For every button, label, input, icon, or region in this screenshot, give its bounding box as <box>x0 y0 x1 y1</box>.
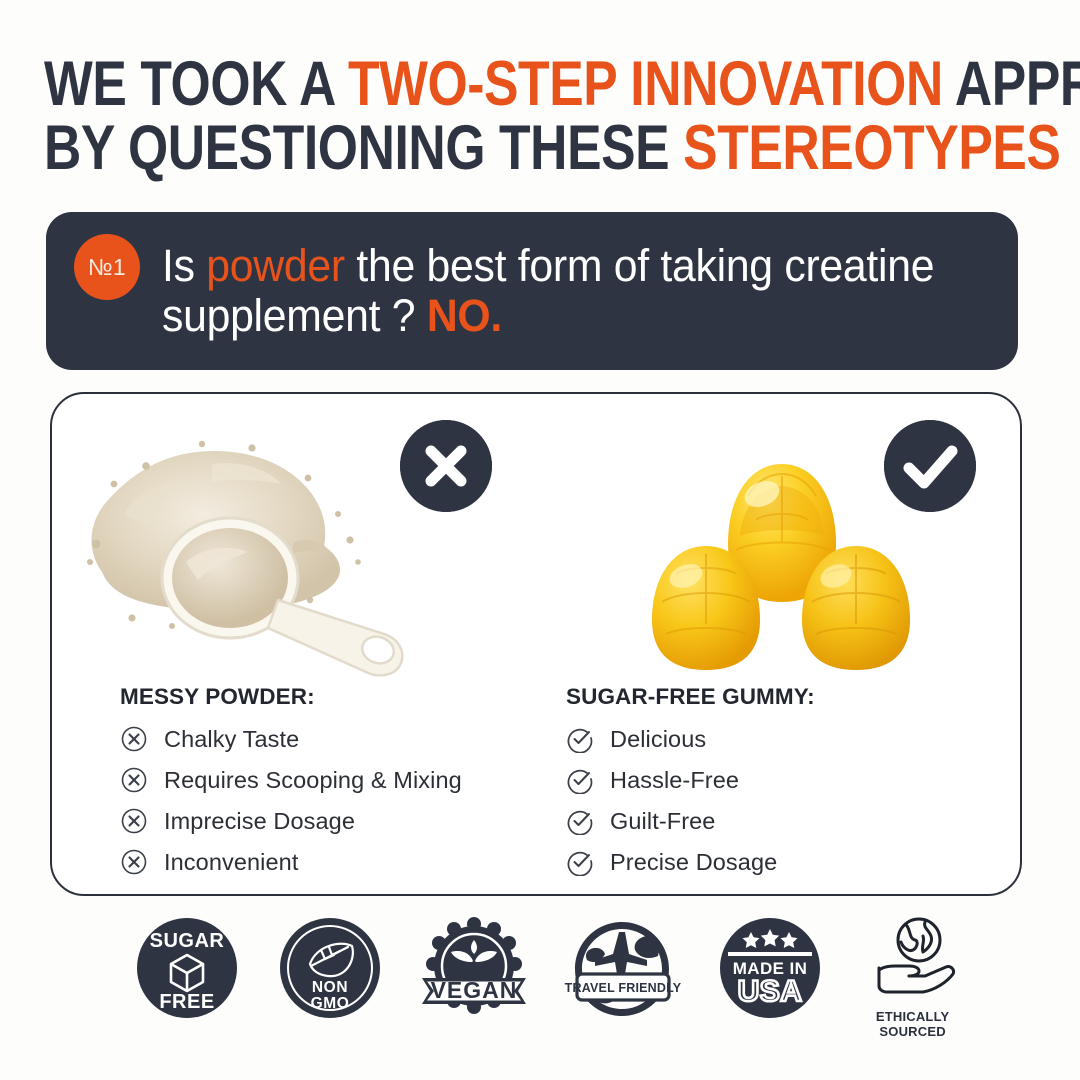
cert-sugar-free-line2: FREE <box>160 991 215 1013</box>
made-in-usa-badge-icon: MADE IN USA <box>718 916 822 1020</box>
list-item-label: Hassle-Free <box>610 767 739 794</box>
question-banner: №1 Is powder the best form of taking cre… <box>46 212 1018 370</box>
cert-made-in-usa-line2: USA <box>737 975 802 1008</box>
list-item: Delicious <box>566 723 986 755</box>
check-circle-outline-icon <box>566 807 594 835</box>
comparison-card: MESSY POWDER: Chalky Taste <box>50 392 1022 896</box>
list-item: Inconvenient <box>120 846 540 878</box>
list-item-label: Guilt-Free <box>610 808 715 835</box>
list-item: Guilt-Free <box>566 805 986 837</box>
headline-line-1: WE TOOK A TWO-STEP INNOVATION APPROACH <box>44 52 864 116</box>
cross-circle-outline-icon <box>120 848 148 876</box>
question-text-part1: Is <box>162 240 206 291</box>
check-circle-outline-icon <box>566 766 594 794</box>
cross-circle-outline-icon <box>120 766 148 794</box>
cert-vegan-label: VEGAN <box>430 977 517 1003</box>
check-circle-icon <box>884 420 976 512</box>
cert-sugar-free-line1: SUGAR <box>150 930 225 952</box>
cert-travel-friendly-label: TRAVEL FRIENDLY <box>565 981 682 995</box>
headline-line2-highlight: STEREOTYPES <box>683 113 1060 183</box>
headline-line1-highlight: TWO-STEP INNOVATION <box>348 49 943 119</box>
list-item: Requires Scooping & Mixing <box>120 764 540 796</box>
certification-badge-strip: SUGAR FREE NON <box>0 916 1080 1066</box>
yellow-gummies-photo <box>636 424 926 676</box>
list-item-label: Precise Dosage <box>610 849 777 876</box>
cert-non-gmo: NON GMO <box>273 916 388 1020</box>
check-circle-outline-icon <box>566 848 594 876</box>
question-keyword-powder: powder <box>206 240 345 291</box>
cert-ethically-sourced-label: ETHICALLYSOURCED <box>876 1009 950 1039</box>
cert-non-gmo-line2: GMO <box>311 995 350 1012</box>
question-number-badge: №1 <box>74 234 140 300</box>
gummy-feature-list: SUGAR-FREE GUMMY: Delicious <box>566 684 986 887</box>
powder-feature-list: MESSY POWDER: Chalky Taste <box>120 684 540 887</box>
infographic-page: WE TOOK A TWO-STEP INNOVATION APPROACH B… <box>0 0 1080 1080</box>
cross-circle-outline-icon <box>120 807 148 835</box>
headline-line1-pre: WE TOOK A <box>44 49 348 119</box>
comparison-column-powder: MESSY POWDER: Chalky Taste <box>52 394 538 894</box>
travel-friendly-badge-icon: TRAVEL FRIENDLY <box>559 916 685 1020</box>
cert-ethically-sourced: ETHICALLYSOURCED <box>855 916 970 1039</box>
non-gmo-badge-icon: NON GMO <box>278 916 382 1020</box>
list-item-label: Chalky Taste <box>164 726 299 753</box>
cross-circle-outline-icon <box>120 725 148 753</box>
cert-made-in-usa: MADE IN USA <box>713 916 828 1020</box>
question-text: Is powder the best form of taking creati… <box>162 241 975 341</box>
list-item-label: Requires Scooping & Mixing <box>164 767 462 794</box>
list-item-label: Inconvenient <box>164 849 298 876</box>
vegan-badge-icon: VEGAN <box>416 916 532 1020</box>
protein-powder-scoop-photo <box>62 422 432 677</box>
cert-sugar-free: SUGAR FREE <box>130 916 245 1020</box>
headline-line1-post: APPROACH <box>943 49 1080 119</box>
powder-list-title: MESSY POWDER: <box>120 684 540 710</box>
list-item: Chalky Taste <box>120 723 540 755</box>
headline-line-2: BY QUESTIONING THESE STEREOTYPES <box>44 116 864 180</box>
cert-travel-friendly: TRAVEL FRIENDLY <box>560 916 685 1020</box>
gummy-list-title: SUGAR-FREE GUMMY: <box>566 684 986 710</box>
list-item: Imprecise Dosage <box>120 805 540 837</box>
comparison-column-gummy: SUGAR-FREE GUMMY: Delicious <box>538 394 1024 894</box>
ethically-sourced-icon <box>861 916 965 1002</box>
list-item-label: Delicious <box>610 726 706 753</box>
headline: WE TOOK A TWO-STEP INNOVATION APPROACH B… <box>44 52 1044 180</box>
list-item-label: Imprecise Dosage <box>164 808 355 835</box>
list-item: Hassle-Free <box>566 764 986 796</box>
headline-line2-pre: BY QUESTIONING THESE <box>44 113 683 183</box>
cert-non-gmo-line1: NON <box>312 979 348 996</box>
sugar-free-badge-icon: SUGAR FREE <box>135 916 239 1020</box>
question-answer-no: NO. <box>427 290 502 341</box>
list-item: Precise Dosage <box>566 846 986 878</box>
check-circle-outline-icon <box>566 725 594 753</box>
cert-vegan: VEGAN <box>416 916 532 1020</box>
cross-circle-icon <box>400 420 492 512</box>
